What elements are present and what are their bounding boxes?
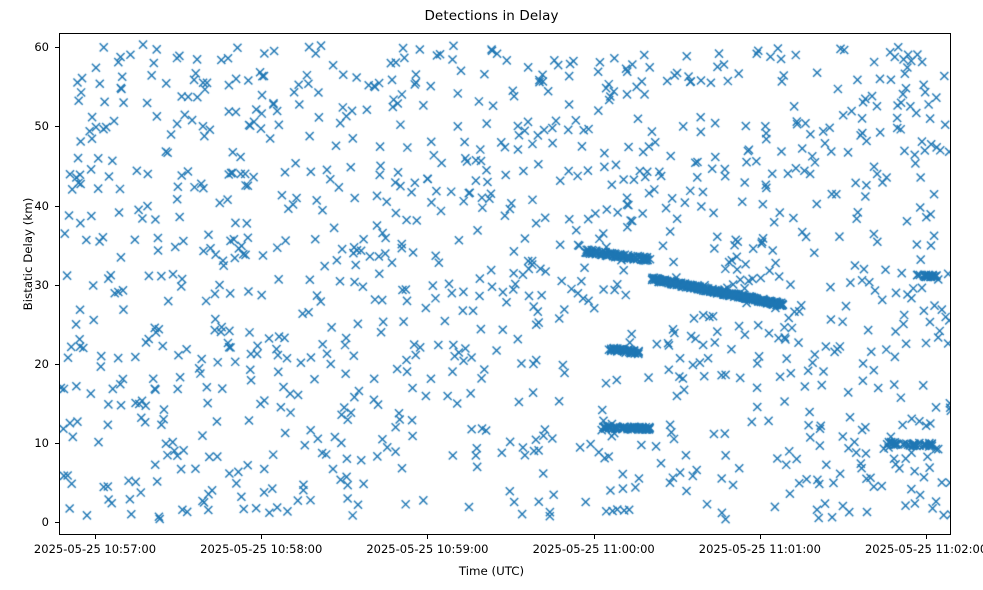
y-axis-ticks: 0102030405060	[0, 33, 59, 535]
x-tick-label: 2025-05-25 10:58:00	[200, 542, 322, 556]
x-tick-label: 2025-05-25 11:01:00	[699, 542, 821, 556]
y-tick-label: 40	[34, 199, 49, 213]
page-title: Detections in Delay	[0, 8, 983, 24]
y-tick-label: 0	[42, 515, 49, 529]
x-tick-label: 2025-05-25 10:59:00	[366, 542, 488, 556]
x-tick-mark	[926, 535, 927, 539]
x-tick-mark	[95, 535, 96, 539]
x-tick-label: 2025-05-25 10:57:00	[34, 542, 156, 556]
x-tick-mark	[594, 535, 595, 539]
x-tick-mark	[427, 535, 428, 539]
y-tick-label: 30	[34, 278, 49, 292]
y-tick-label: 20	[34, 357, 49, 371]
x-tick-mark	[760, 535, 761, 539]
matplotlib-figure: Detections in Delay Bistatic Delay (km) …	[0, 0, 983, 590]
y-tick-label: 60	[34, 40, 49, 54]
x-tick-label: 2025-05-25 11:00:00	[533, 542, 655, 556]
y-tick-label: 10	[34, 436, 49, 450]
plot-area	[59, 33, 951, 535]
x-axis-label: Time (UTC)	[0, 564, 983, 578]
scatter-plot-canvas	[60, 34, 951, 535]
x-tick-mark	[261, 535, 262, 539]
y-tick-label: 50	[34, 119, 49, 133]
x-tick-label: 2025-05-25 11:02:00	[865, 542, 983, 556]
